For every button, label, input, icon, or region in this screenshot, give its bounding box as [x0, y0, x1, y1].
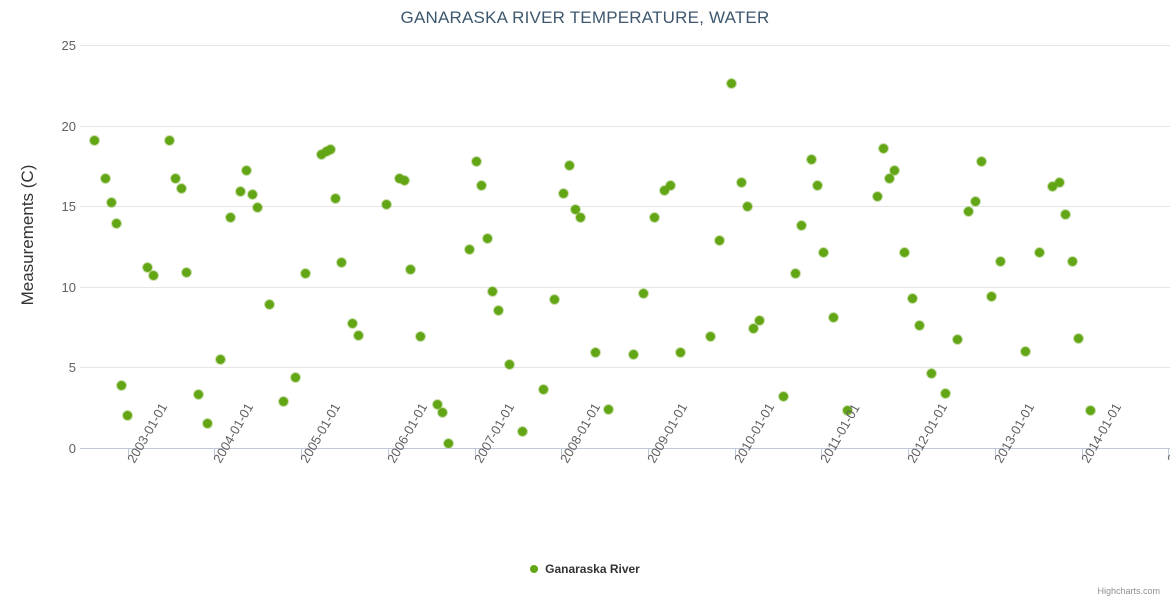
data-point[interactable]: [797, 221, 806, 230]
gridline: [80, 206, 1170, 207]
legend-marker-icon: [530, 565, 538, 573]
plot-area: 0510152025: [80, 45, 1170, 448]
data-point[interactable]: [149, 271, 158, 280]
y-axis-tick-label: 5: [16, 367, 76, 368]
data-point[interactable]: [472, 157, 481, 166]
data-point[interactable]: [629, 350, 638, 359]
data-point[interactable]: [505, 360, 514, 369]
data-point[interactable]: [477, 181, 486, 190]
gridline: [80, 45, 1170, 46]
data-point[interactable]: [539, 385, 548, 394]
data-point[interactable]: [171, 174, 180, 183]
chart-title: GANARASKA RIVER TEMPERATURE, WATER: [0, 8, 1170, 28]
data-point[interactable]: [177, 184, 186, 193]
data-point[interactable]: [676, 348, 685, 357]
data-point[interactable]: [791, 269, 800, 278]
data-point[interactable]: [996, 257, 1005, 266]
data-point[interactable]: [1021, 347, 1030, 356]
data-point[interactable]: [331, 194, 340, 203]
gridline: [80, 126, 1170, 127]
data-point[interactable]: [915, 321, 924, 330]
data-point[interactable]: [779, 392, 788, 401]
y-axis-tick-label: 15: [16, 206, 76, 207]
data-point[interactable]: [236, 187, 245, 196]
data-point[interactable]: [203, 419, 212, 428]
gridline: [80, 367, 1170, 368]
data-point[interactable]: [964, 207, 973, 216]
data-point[interactable]: [348, 319, 357, 328]
y-axis-title: Measurements (C): [18, 40, 38, 430]
chart-container: GANARASKA RIVER TEMPERATURE, WATER Measu…: [0, 0, 1170, 600]
data-point[interactable]: [242, 166, 251, 175]
data-point[interactable]: [465, 245, 474, 254]
data-point[interactable]: [1074, 334, 1083, 343]
data-point[interactable]: [873, 192, 882, 201]
data-point[interactable]: [813, 181, 822, 190]
data-point[interactable]: [576, 213, 585, 222]
data-point[interactable]: [518, 427, 527, 436]
data-point[interactable]: [829, 313, 838, 322]
data-point[interactable]: [639, 289, 648, 298]
data-point[interactable]: [1068, 257, 1077, 266]
data-point[interactable]: [737, 178, 746, 187]
data-point[interactable]: [1086, 406, 1095, 415]
y-axis-tick-label: 25: [16, 45, 76, 46]
data-point[interactable]: [666, 181, 675, 190]
data-point[interactable]: [416, 332, 425, 341]
data-point[interactable]: [483, 234, 492, 243]
data-point[interactable]: [301, 269, 310, 278]
data-point[interactable]: [406, 265, 415, 274]
data-point[interactable]: [755, 316, 764, 325]
y-axis-tick-label: 10: [16, 287, 76, 288]
data-point[interactable]: [900, 248, 909, 257]
data-point[interactable]: [1035, 248, 1044, 257]
data-point[interactable]: [927, 369, 936, 378]
data-point[interactable]: [337, 258, 346, 267]
data-point[interactable]: [885, 174, 894, 183]
y-axis-tick-label: 20: [16, 126, 76, 127]
data-point[interactable]: [326, 145, 335, 154]
data-point[interactable]: [265, 300, 274, 309]
data-point[interactable]: [650, 213, 659, 222]
data-point[interactable]: [182, 268, 191, 277]
data-point[interactable]: [253, 203, 262, 212]
data-point[interactable]: [749, 324, 758, 333]
data-point[interactable]: [807, 155, 816, 164]
data-point[interactable]: [987, 292, 996, 301]
data-point[interactable]: [494, 306, 503, 315]
data-point[interactable]: [941, 389, 950, 398]
data-point[interactable]: [604, 405, 613, 414]
data-point[interactable]: [382, 200, 391, 209]
data-point[interactable]: [216, 355, 225, 364]
data-point[interactable]: [354, 331, 363, 340]
data-point[interactable]: [117, 381, 126, 390]
data-point[interactable]: [488, 287, 497, 296]
data-point[interactable]: [819, 248, 828, 257]
legend-item-label: Ganaraska River: [545, 562, 640, 576]
data-point[interactable]: [1061, 210, 1070, 219]
data-point[interactable]: [890, 166, 899, 175]
data-point[interactable]: [400, 176, 409, 185]
data-point[interactable]: [591, 348, 600, 357]
data-point[interactable]: [438, 408, 447, 417]
data-point[interactable]: [559, 189, 568, 198]
data-point[interactable]: [112, 219, 121, 228]
data-point[interactable]: [550, 295, 559, 304]
data-point[interactable]: [879, 144, 888, 153]
data-point[interactable]: [565, 161, 574, 170]
data-point[interactable]: [743, 202, 752, 211]
data-point[interactable]: [165, 136, 174, 145]
data-point[interactable]: [194, 390, 203, 399]
chart-legend[interactable]: Ganaraska River: [0, 561, 1170, 576]
data-point[interactable]: [971, 197, 980, 206]
data-point[interactable]: [977, 157, 986, 166]
data-point[interactable]: [1055, 178, 1064, 187]
data-point[interactable]: [953, 335, 962, 344]
data-point[interactable]: [123, 411, 132, 420]
data-point[interactable]: [908, 294, 917, 303]
data-point[interactable]: [727, 79, 736, 88]
data-point[interactable]: [279, 397, 288, 406]
y-axis-tick-label: 0: [16, 448, 76, 449]
credits-label[interactable]: Highcharts.com: [1097, 586, 1160, 596]
data-point[interactable]: [248, 190, 257, 199]
data-point[interactable]: [715, 236, 724, 245]
data-point[interactable]: [90, 136, 99, 145]
data-point[interactable]: [226, 213, 235, 222]
data-point[interactable]: [291, 373, 300, 382]
data-point[interactable]: [101, 174, 110, 183]
data-point[interactable]: [444, 439, 453, 448]
data-point[interactable]: [706, 332, 715, 341]
gridline: [80, 287, 1170, 288]
